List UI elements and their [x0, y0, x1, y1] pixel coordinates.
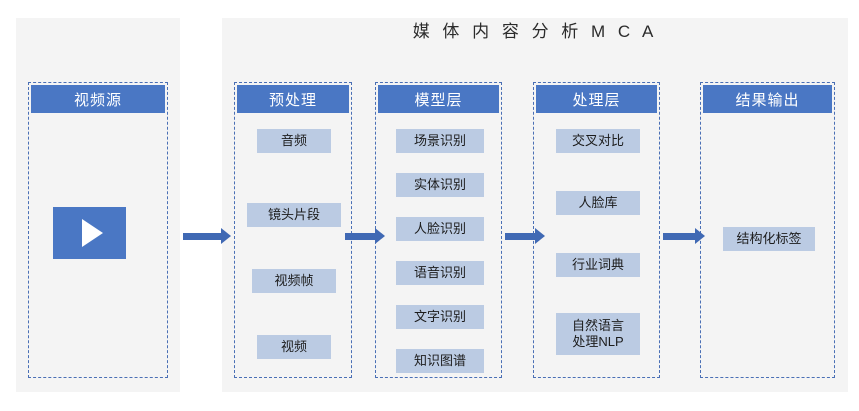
- chip-entity-recognition[interactable]: 实体识别: [396, 173, 484, 197]
- stage-body-processing-layer: 交叉对比 人脸库 行业词典 自然语言 处理NLP: [534, 113, 659, 377]
- arrow-shaft: [663, 233, 695, 240]
- stage-header-model-layer: 模型层: [378, 85, 499, 113]
- chip-scene-recognition[interactable]: 场景识别: [396, 129, 484, 153]
- arrow-head: [375, 228, 385, 244]
- arrow-preprocess-to-model: [345, 228, 385, 244]
- stage-header-preprocess: 预处理: [237, 85, 349, 113]
- arrow-head: [221, 228, 231, 244]
- stage-header-processing-layer: 处理层: [536, 85, 657, 113]
- chip-industry-lexicon[interactable]: 行业词典: [556, 253, 640, 277]
- chip-video-frame[interactable]: 视频帧: [252, 269, 336, 293]
- arrow-head: [695, 228, 705, 244]
- chip-knowledge-graph[interactable]: 知识图谱: [396, 349, 484, 373]
- chip-cross-comparison[interactable]: 交叉对比: [556, 129, 640, 153]
- arrow-shaft: [345, 233, 375, 240]
- chip-face-database[interactable]: 人脸库: [556, 191, 640, 215]
- arrow-shaft: [505, 233, 535, 240]
- play-triangle-glyph: [82, 219, 103, 247]
- arrow-model-to-process: [505, 228, 545, 244]
- stage-column-processing-layer[interactable]: 处理层 交叉对比 人脸库 行业词典 自然语言 处理NLP: [533, 82, 660, 378]
- stage-column-preprocess[interactable]: 预处理 音频 镜头片段 视频帧 视频: [234, 82, 352, 378]
- chip-video[interactable]: 视频: [257, 335, 331, 359]
- arrow-shaft: [183, 233, 221, 240]
- chip-structured-tags[interactable]: 结构化标签: [723, 227, 815, 251]
- arrow-source-to-preprocess: [183, 228, 231, 244]
- chip-audio[interactable]: 音频: [257, 129, 331, 153]
- stage-body-model-layer: 场景识别 实体识别 人脸识别 语音识别 文字识别 知识图谱: [376, 113, 501, 377]
- play-icon[interactable]: [53, 207, 126, 259]
- stage-body-result-output: 结构化标签: [701, 113, 834, 377]
- arrow-head: [535, 228, 545, 244]
- chip-speech-recognition[interactable]: 语音识别: [396, 261, 484, 285]
- chip-text-recognition[interactable]: 文字识别: [396, 305, 484, 329]
- arrow-process-to-output: [663, 228, 705, 244]
- chip-nlp[interactable]: 自然语言 处理NLP: [556, 313, 640, 355]
- stage-column-model-layer[interactable]: 模型层 场景识别 实体识别 人脸识别 语音识别 文字识别 知识图谱: [375, 82, 502, 378]
- chip-shot-segment[interactable]: 镜头片段: [247, 203, 341, 227]
- stage-body-preprocess: 音频 镜头片段 视频帧 视频: [235, 113, 351, 377]
- chip-face-recognition[interactable]: 人脸识别: [396, 217, 484, 241]
- stage-header-video-source: 视频源: [31, 85, 165, 113]
- stage-column-result-output[interactable]: 结果输出 结构化标签: [700, 82, 835, 378]
- diagram-title: 媒 体 内 容 分 析 M C A: [222, 20, 848, 44]
- stage-header-result-output: 结果输出: [703, 85, 832, 113]
